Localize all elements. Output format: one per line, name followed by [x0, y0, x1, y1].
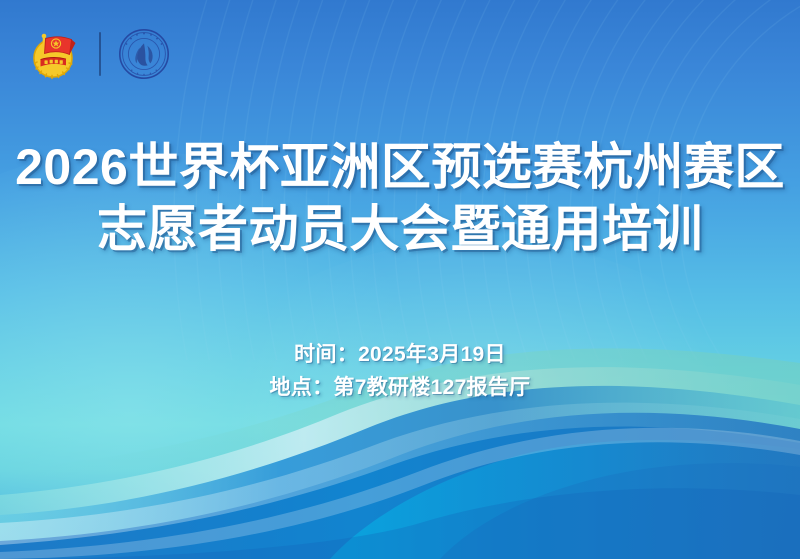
headline-line-1: 2026世界杯亚洲区预选赛杭州赛区 — [0, 136, 800, 198]
headline: 2026世界杯亚洲区预选赛杭州赛区 志愿者动员大会暨通用培训 — [0, 136, 800, 260]
university-seal-icon — [118, 28, 170, 80]
event-details: 时间：2025年3月19日 地点：第7教研楼127报告厅 — [0, 338, 800, 404]
logo-bar — [26, 28, 170, 80]
event-poster: 2026世界杯亚洲区预选赛杭州赛区 志愿者动员大会暨通用培训 时间：2025年3… — [0, 0, 800, 559]
event-time: 时间：2025年3月19日 — [0, 338, 800, 371]
event-place: 地点：第7教研楼127报告厅 — [0, 371, 800, 404]
headline-line-2: 志愿者动员大会暨通用培训 — [0, 198, 800, 260]
communist-youth-league-emblem-icon — [26, 28, 82, 80]
logo-divider — [99, 32, 101, 76]
